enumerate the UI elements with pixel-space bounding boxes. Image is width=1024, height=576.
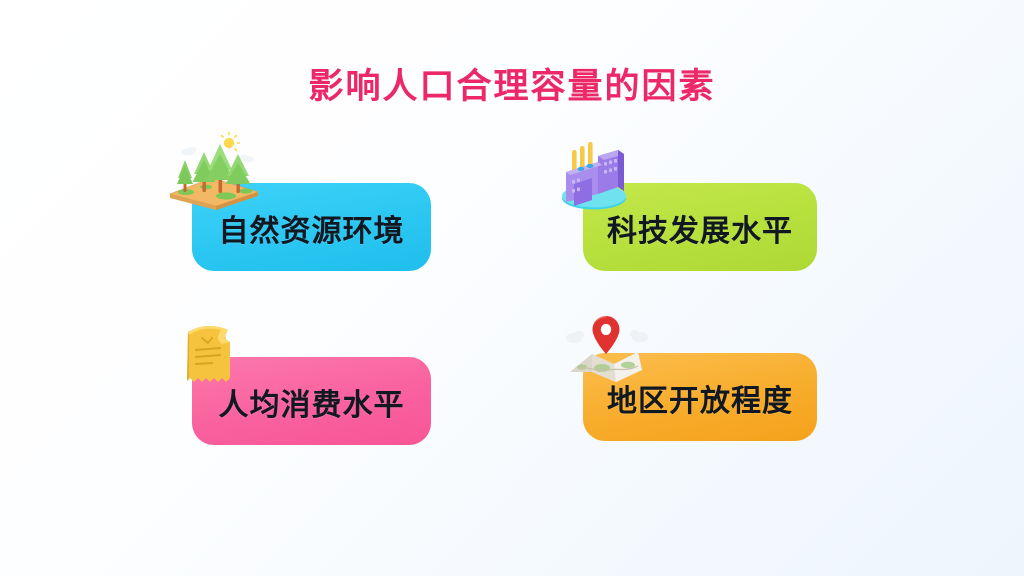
card-label-technology-level: 科技发展水平 [607, 206, 793, 250]
forest-3d-icon [166, 132, 262, 208]
slide-canvas: 影响人口合理容量的因素 自然资源环境 [0, 0, 1024, 576]
map-pin-3d-icon [558, 310, 654, 388]
card-label-consumption-level: 人均消费水平 [219, 380, 405, 424]
receipt-3d-icon [178, 322, 242, 392]
factory-3d-icon [552, 140, 636, 212]
card-label-natural-resources: 自然资源环境 [219, 206, 405, 250]
page-title: 影响人口合理容量的因素 [0, 58, 1024, 109]
